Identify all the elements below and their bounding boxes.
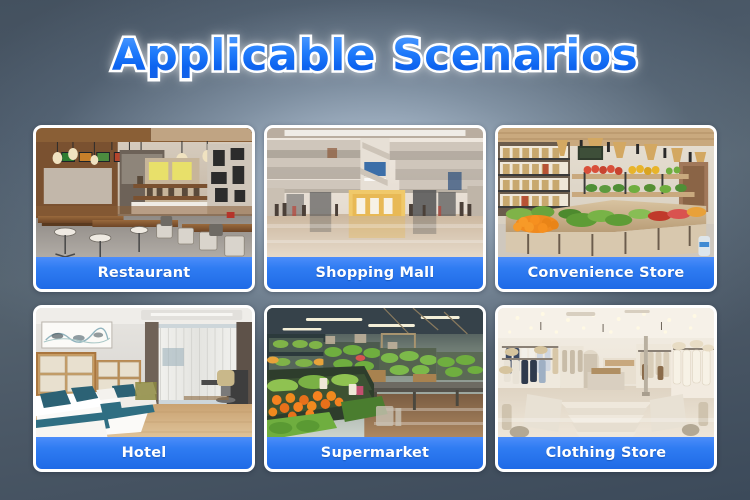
scenario-card-supermarket[interactable]: Supermarket: [264, 305, 486, 472]
scenario-label-text: Hotel: [122, 445, 167, 461]
applicable-scenarios-banner: Applicable Scenarios Applicable Scenario…: [0, 0, 750, 500]
scenario-card-restaurant[interactable]: Restaurant: [33, 125, 255, 292]
page-title: Applicable Scenarios Applicable Scenario…: [0, 34, 750, 98]
scenario-label-restaurant: Restaurant: [36, 257, 252, 289]
supermarket-photo: [267, 308, 483, 440]
shopping-mall-photo: [267, 128, 483, 260]
scenario-card-convenience-store[interactable]: Convenience Store: [495, 125, 717, 292]
scenario-label-text: Clothing Store: [546, 445, 667, 461]
scenario-label-shopping-mall: Shopping Mall: [267, 257, 483, 289]
restaurant-photo: [36, 128, 252, 260]
scenario-label-hotel: Hotel: [36, 437, 252, 469]
scenario-label-supermarket: Supermarket: [267, 437, 483, 469]
convenience-store-photo: [498, 128, 714, 260]
scenario-grid: Restaurant: [33, 125, 717, 472]
scenario-label-clothing-store: Clothing Store: [498, 437, 714, 469]
hotel-photo: [36, 308, 252, 440]
scenario-label-convenience-store: Convenience Store: [498, 257, 714, 289]
scenario-card-hotel[interactable]: Hotel: [33, 305, 255, 472]
scenario-card-clothing-store[interactable]: Clothing Store: [495, 305, 717, 472]
scenario-label-text: Shopping Mall: [316, 265, 435, 281]
scenario-label-text: Convenience Store: [528, 265, 685, 281]
clothing-store-photo: [498, 308, 714, 440]
page-title-text: Applicable Scenarios: [112, 34, 639, 78]
scenario-label-text: Supermarket: [321, 445, 429, 461]
scenario-label-text: Restaurant: [98, 265, 191, 281]
scenario-card-shopping-mall[interactable]: Shopping Mall: [264, 125, 486, 292]
